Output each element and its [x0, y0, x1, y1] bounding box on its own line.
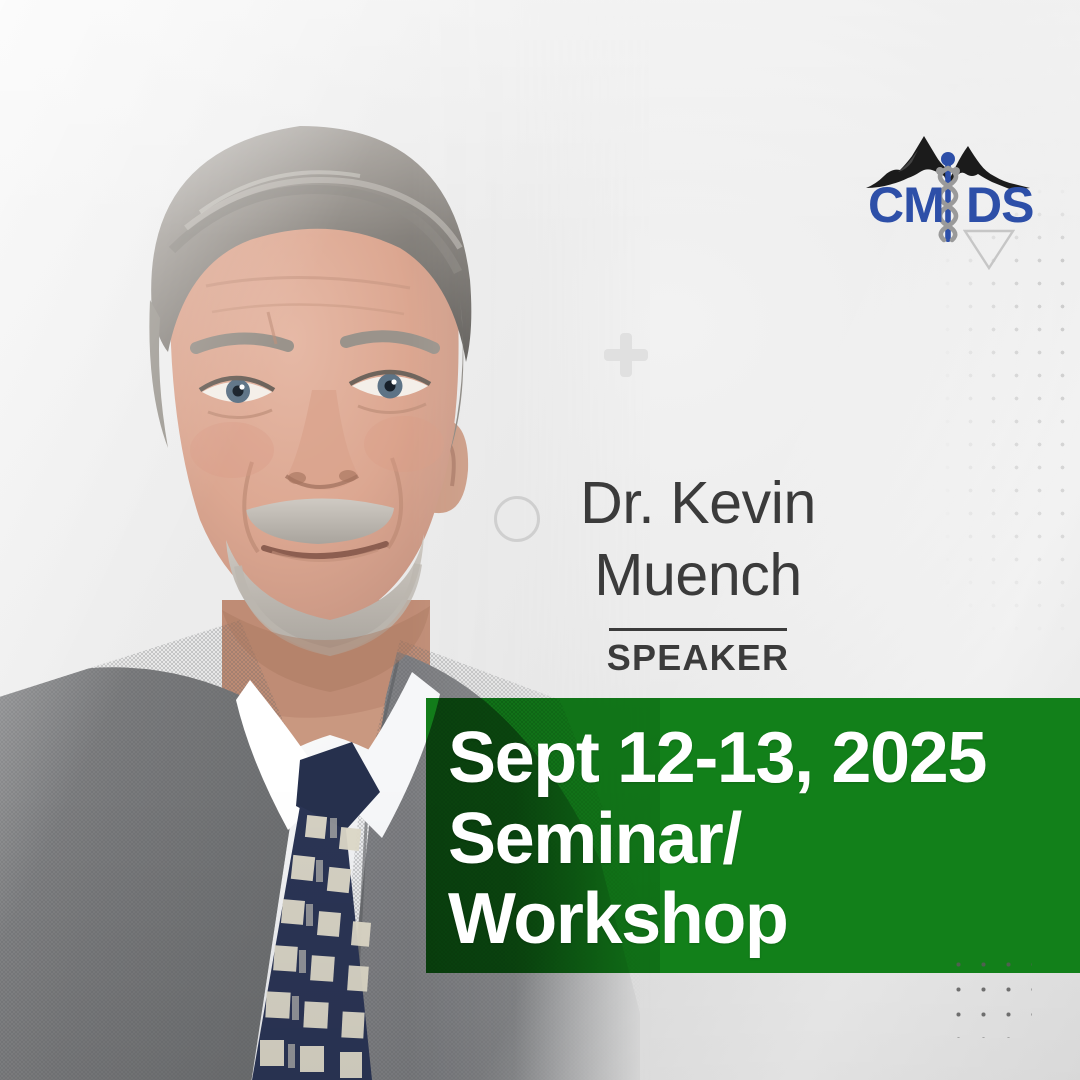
speaker-name: Dr. Kevin Muench	[488, 468, 908, 612]
cmds-logo[interactable]: CM DS	[862, 126, 1034, 252]
logo-letters-left: CM	[868, 177, 944, 233]
logo-letters-right: DS	[966, 177, 1033, 233]
speaker-announcement-poster: CM DS Dr. Kevin Muench SPEAKER Sept 12-1…	[0, 0, 1080, 1080]
speaker-role-label: SPEAKER	[488, 637, 908, 679]
speaker-info-block: Dr. Kevin Muench SPEAKER	[488, 468, 908, 679]
plus-icon	[604, 333, 648, 377]
event-banner-text: Sept 12-13, 2025 Seminar/ Workshop	[448, 718, 1076, 960]
divider-rule	[609, 628, 787, 631]
